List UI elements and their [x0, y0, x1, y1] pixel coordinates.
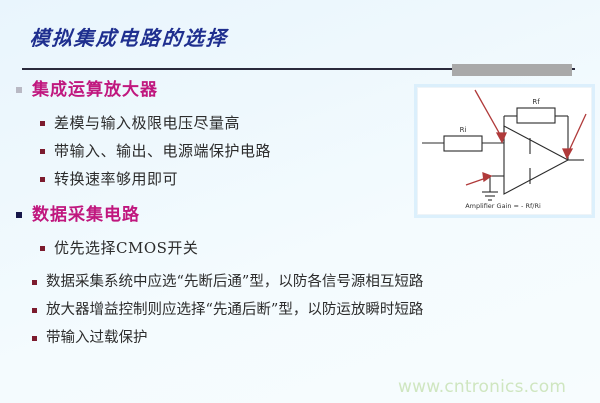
title-divider-tab — [452, 64, 572, 76]
arrow-2-head — [563, 149, 572, 158]
list-item-label: 差模与输入极限电压尽量高 — [54, 110, 240, 137]
list-item-label: 带输入、输出、电源端保护电路 — [54, 138, 271, 165]
input-resistor-label: Ri — [460, 126, 467, 134]
opamp-triangle — [504, 126, 568, 194]
list-item-label: 放大器增益控制则应选择“先通后断”型，以防运放瞬时短路 — [46, 297, 423, 324]
list-item: 带输入过载保护 — [0, 325, 600, 352]
list-item: 数据采集系统中应选“先断后通”型，以防各信号源相互短路 — [0, 269, 600, 296]
list-item-label: 集成运算放大器 — [32, 78, 158, 102]
arrow-1-head — [497, 133, 506, 142]
inverting-op-amp-svg: Ri Rf Amplifier Gain = - Rf/Ri — [418, 88, 589, 212]
arrow-3-shaft — [466, 178, 486, 185]
bullet-square-icon — [40, 121, 45, 126]
page-title: 模拟集成电路的选择 — [29, 22, 229, 51]
list-item-label: 数据采集电路 — [32, 203, 140, 227]
bullet-square-icon — [32, 336, 37, 341]
list-item: 放大器增益控制则应选择“先通后断”型，以防运放瞬时短路 — [0, 297, 600, 324]
list-item-label: 优先选择CMOS开关 — [54, 235, 198, 262]
arrow-2-shaft — [568, 114, 586, 153]
bullet-square-icon — [40, 149, 45, 154]
bullet-square-icon — [32, 280, 37, 285]
bullet-square-icon — [16, 212, 22, 218]
feedback-resistor-body — [517, 108, 555, 123]
site-watermark: www.cntronics.com — [398, 377, 566, 397]
feedback-resistor-label: Rf — [532, 98, 540, 106]
figure-caption: Amplifier Gain = - Rf/Ri — [465, 202, 541, 210]
bullet-square-icon — [32, 308, 37, 313]
bullet-square-icon — [40, 177, 45, 182]
slide-canvas: 模拟集成电路的选择 集成运算放大器 差模与输入极限电压尽量高 带输入、输出、电源… — [0, 0, 600, 403]
list-item-label: 数据采集系统中应选“先断后通”型，以防各信号源相互短路 — [46, 269, 423, 296]
list-item-label: 带输入过载保护 — [46, 325, 148, 352]
bullet-square-icon — [16, 87, 22, 93]
circuit-diagram-figure: Ri Rf Amplifier Gain = - Rf/Ri — [417, 87, 592, 215]
input-resistor-body — [444, 136, 482, 151]
arrow-1-shaft — [475, 90, 502, 138]
list-item-label: 转换速率够用即可 — [54, 166, 178, 193]
bullet-square-icon — [40, 246, 45, 251]
list-item: 优先选择CMOS开关 — [0, 235, 600, 262]
